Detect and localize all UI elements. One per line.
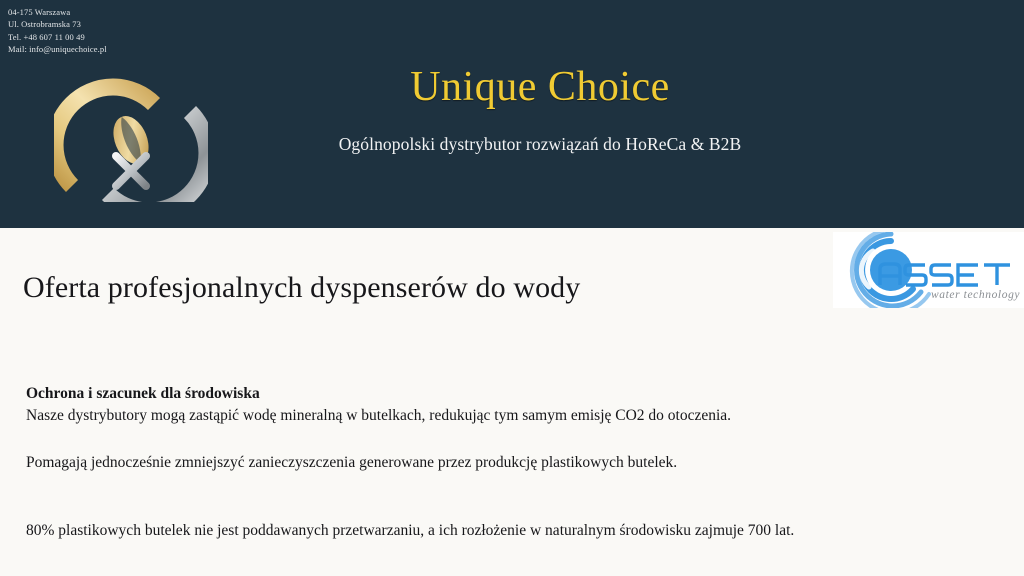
asset-wordmark xyxy=(880,264,1010,285)
asset-water-technology-logo: water technology xyxy=(833,232,1024,308)
contact-info-block: 04-175 Warszawa Ul. Ostrobramska 73 Tel.… xyxy=(8,6,107,56)
contact-line-phone: Tel. +48 607 11 00 49 xyxy=(8,31,107,43)
header-band: 04-175 Warszawa Ul. Ostrobramska 73 Tel.… xyxy=(0,0,1024,228)
logo-coffee-bean xyxy=(107,111,155,169)
eco-section-heading: Ochrona i szacunek dla środowiska xyxy=(26,383,260,404)
unique-choice-logo xyxy=(54,78,208,202)
eco-paragraph-1: Nasze dystrybutory mogą zastąpić wodę mi… xyxy=(26,405,731,427)
eco-paragraph-3: 80% plastikowych butelek nie jest poddaw… xyxy=(26,520,794,542)
slide-root: 04-175 Warszawa Ul. Ostrobramska 73 Tel.… xyxy=(0,0,1024,576)
brand-tagline: Ogólnopolski dystrybutor rozwiązań do Ho… xyxy=(230,132,850,156)
eco-paragraph-2: Pomagają jednocześnie zmniejszyć zaniecz… xyxy=(26,452,677,474)
offer-heading: Oferta profesjonalnych dyspenserów do wo… xyxy=(23,268,580,308)
asset-swirl-icon xyxy=(852,232,929,308)
brand-title: Unique Choice xyxy=(230,62,850,112)
asset-subtitle: water technology xyxy=(931,289,1020,301)
contact-line-city: 04-175 Warszawa xyxy=(8,6,107,18)
contact-line-email: Mail: info@uniquechoice.pl xyxy=(8,43,107,55)
contact-line-street: Ul. Ostrobramska 73 xyxy=(8,18,107,30)
